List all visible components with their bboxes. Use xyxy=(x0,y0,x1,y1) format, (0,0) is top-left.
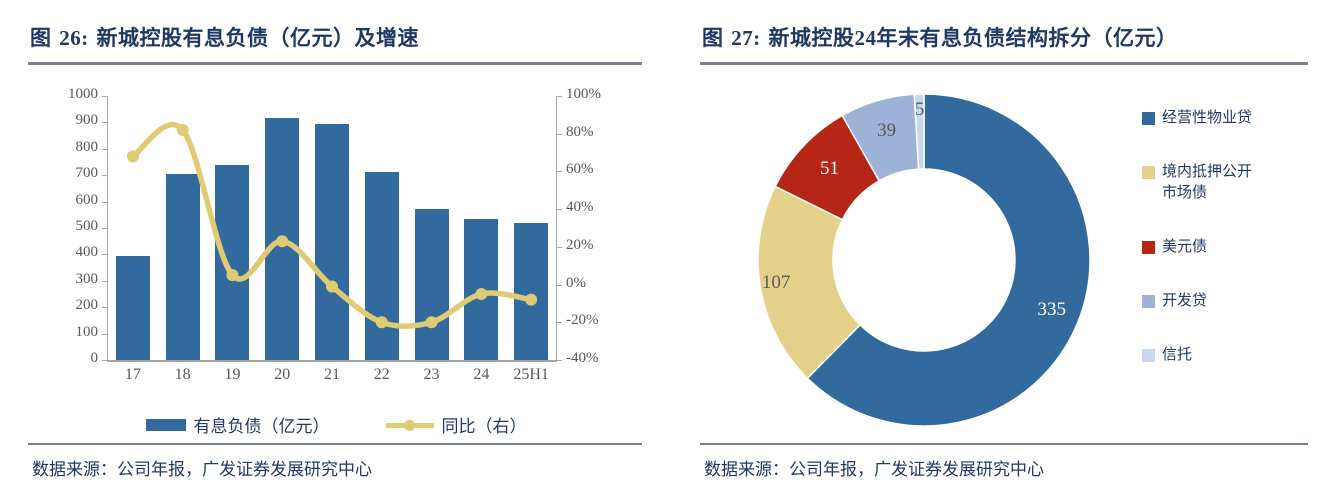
y-tick-right xyxy=(557,134,562,135)
x-axis-tick-label: 25H1 xyxy=(501,366,561,384)
legend-item-2: 美元债 xyxy=(1142,237,1312,257)
y-tick-left xyxy=(102,254,107,255)
legend-swatch-line-icon xyxy=(386,419,434,431)
y-tick-right xyxy=(557,322,562,323)
y-axis-right-tick-label: -20% xyxy=(566,312,626,329)
legend-label-4: 信托 xyxy=(1162,345,1192,365)
y-axis-left-tick-label: 500 xyxy=(36,218,98,235)
y-axis-left-tick-label: 700 xyxy=(36,165,98,182)
donut-svg xyxy=(752,88,1096,432)
legend-label-line: 同比（右） xyxy=(442,412,527,437)
legend-label-3: 开发贷 xyxy=(1162,291,1207,311)
figure-27-legend: 经营性物业贷境内抵押公开市场债美元债开发贷信托 xyxy=(1142,108,1312,400)
y-axis-left-tick-label: 900 xyxy=(36,112,98,129)
y-tick-left xyxy=(102,202,107,203)
y-axis-right-tick-label: 60% xyxy=(566,161,626,178)
bar-20 xyxy=(265,118,299,360)
figure-27-source-divider xyxy=(700,443,1308,445)
donut-value-label-0: 335 xyxy=(1032,299,1072,321)
bar-19 xyxy=(215,165,249,360)
bar-24 xyxy=(464,219,498,360)
y-axis-right-tick-label: 40% xyxy=(566,199,626,216)
y-axis-left-tick-label: 1000 xyxy=(36,86,98,103)
bar-series xyxy=(108,96,556,360)
figure-27-title: 图 27: 新城控股24年末有息负债结构拆分（亿元） xyxy=(702,22,1178,52)
legend-label-bar: 有息负债（亿元） xyxy=(194,412,330,437)
y-tick-left xyxy=(102,175,107,176)
legend-label-1: 境内抵押公开市场债 xyxy=(1162,162,1252,203)
y-axis-right-line xyxy=(556,96,557,361)
y-axis-left-tick-label: 200 xyxy=(36,297,98,314)
y-axis-right-tick-label: 80% xyxy=(566,124,626,141)
y-tick-right xyxy=(557,96,562,97)
legend-swatch-icon-3 xyxy=(1142,295,1155,308)
y-tick-right xyxy=(557,360,562,361)
y-axis-left-tick-label: 800 xyxy=(36,139,98,156)
figure-27-title-text: 新城控股24年末有息负债结构拆分（亿元） xyxy=(769,26,1178,50)
y-axis-left-tick-label: 600 xyxy=(36,192,98,209)
bar-17 xyxy=(116,256,150,360)
legend-label-0: 经营性物业贷 xyxy=(1162,108,1252,128)
y-tick-left xyxy=(102,281,107,282)
bar-22 xyxy=(365,172,399,360)
y-axis-left-tick-label: 100 xyxy=(36,324,98,341)
y-tick-right xyxy=(557,285,562,286)
bar-23 xyxy=(415,209,449,360)
legend-swatch-bar-icon xyxy=(146,419,186,431)
figure-27-title-divider xyxy=(700,62,1308,65)
figure-26-source-divider xyxy=(28,443,642,445)
legend-label-2: 美元债 xyxy=(1162,237,1207,257)
legend-item-bar: 有息负债（亿元） xyxy=(146,412,330,437)
donut-value-label-1: 107 xyxy=(756,272,796,294)
y-axis-left-tick-label: 300 xyxy=(36,271,98,288)
donut-chart: 33510751395 xyxy=(752,88,1096,432)
donut-value-label-3: 39 xyxy=(867,120,907,142)
legend-item-1: 境内抵押公开市场债 xyxy=(1142,162,1312,203)
y-tick-left xyxy=(102,360,107,361)
legend-swatch-icon-4 xyxy=(1142,349,1155,362)
legend-swatch-icon-0 xyxy=(1142,112,1155,125)
figure-26-source-note: 数据来源：公司年报，广发证券发展研究中心 xyxy=(32,455,372,480)
legend-swatch-icon-2 xyxy=(1142,241,1155,254)
y-axis-right-tick-label: 20% xyxy=(566,237,626,254)
figure-27-title-number: 27: xyxy=(731,26,761,50)
figure-26-panel: 图 26: 新城控股有息负债（亿元）及增速 010020030040050060… xyxy=(0,0,672,492)
y-tick-left xyxy=(102,334,107,335)
y-tick-right xyxy=(557,247,562,248)
figure-27-title-prefix: 图 xyxy=(702,26,724,50)
x-axis-line xyxy=(107,360,557,362)
figure-26-legend: 有息负债（亿元） 同比（右） xyxy=(0,412,672,437)
donut-value-label-4: 5 xyxy=(900,99,940,121)
legend-item-3: 开发贷 xyxy=(1142,291,1312,311)
y-tick-left xyxy=(102,149,107,150)
donut-value-label-2: 51 xyxy=(810,158,850,180)
bar-21 xyxy=(315,124,349,360)
y-tick-left xyxy=(102,228,107,229)
y-axis-right-tick-label: 100% xyxy=(566,86,626,103)
figure-page: 图 26: 新城控股有息负债（亿元）及增速 010020030040050060… xyxy=(0,0,1320,492)
legend-item-4: 信托 xyxy=(1142,345,1312,365)
bar-18 xyxy=(166,174,200,360)
legend-item-line: 同比（右） xyxy=(386,412,527,437)
y-tick-right xyxy=(557,171,562,172)
bar-25H1 xyxy=(514,223,548,360)
y-tick-left xyxy=(102,96,107,97)
y-tick-left xyxy=(102,122,107,123)
legend-swatch-icon-1 xyxy=(1142,166,1155,179)
y-tick-left xyxy=(102,307,107,308)
y-axis-left-tick-label: 400 xyxy=(36,244,98,261)
y-axis-right-tick-label: 0% xyxy=(566,275,626,292)
legend-item-0: 经营性物业贷 xyxy=(1142,108,1312,128)
y-axis-right-tick-label: -40% xyxy=(566,350,626,367)
figure-27-source-note: 数据来源：公司年报，广发证券发展研究中心 xyxy=(704,455,1044,480)
y-tick-right xyxy=(557,209,562,210)
y-axis-left-tick-label: 0 xyxy=(36,350,98,367)
